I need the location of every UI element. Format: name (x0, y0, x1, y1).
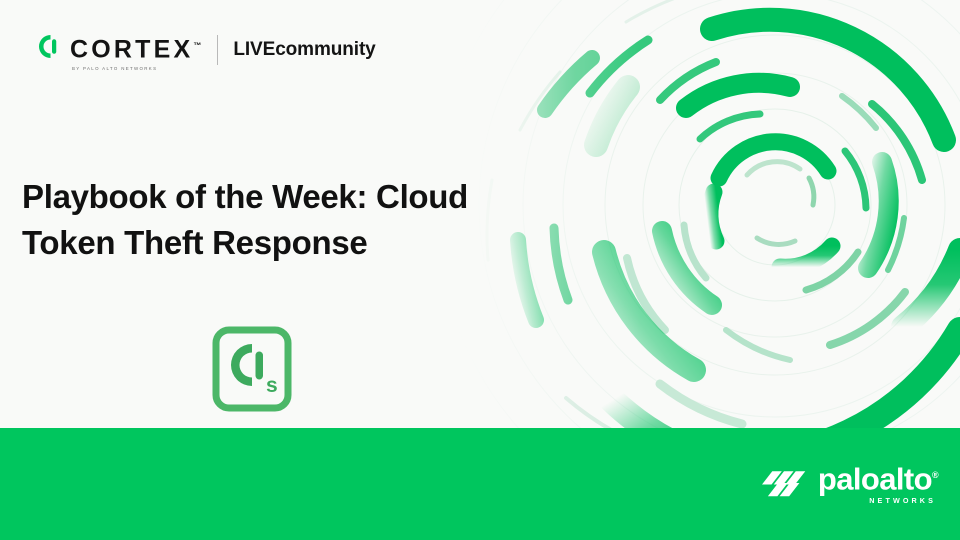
page-title-line-2: Token Theft Response (22, 220, 582, 266)
cortex-trademark-symbol: ™ (193, 41, 201, 50)
brand-divider (217, 35, 218, 65)
paloalto-parallelograms-icon (762, 468, 806, 498)
cortex-logo: CORTEX™ BY PALO ALTO NETWORKS (38, 33, 201, 67)
cortex-c-mark-icon (38, 34, 63, 59)
cortex-xsoar-badge-icon: s (211, 325, 293, 413)
paloalto-networks-logo: paloalto® NETWORKS (762, 460, 938, 506)
footer-banner: paloalto® NETWORKS (0, 428, 960, 540)
paloalto-wordmark-text: paloalto (818, 461, 932, 496)
page-title-line-1: Playbook of the Week: Cloud (22, 174, 582, 220)
cortex-byline: BY PALO ALTO NETWORKS (72, 65, 157, 73)
livecommunity-wordmark: LIVEcommunity (233, 39, 375, 61)
xsoar-badge-letter: s (266, 374, 278, 397)
page-title: Playbook of the Week: Cloud Token Theft … (22, 174, 582, 266)
paloalto-wordmark: paloalto® (818, 460, 938, 494)
paloalto-networks-subtitle: NETWORKS (869, 495, 936, 506)
banner-canvas: CORTEX™ BY PALO ALTO NETWORKS LIVEcommun… (0, 0, 960, 540)
paloalto-registered-symbol: ® (932, 470, 938, 480)
brand-lockup: CORTEX™ BY PALO ALTO NETWORKS LIVEcommun… (38, 33, 376, 67)
cortex-wordmark: CORTEX™ (70, 33, 201, 62)
cortex-wordmark-text: CORTEX (70, 35, 193, 63)
